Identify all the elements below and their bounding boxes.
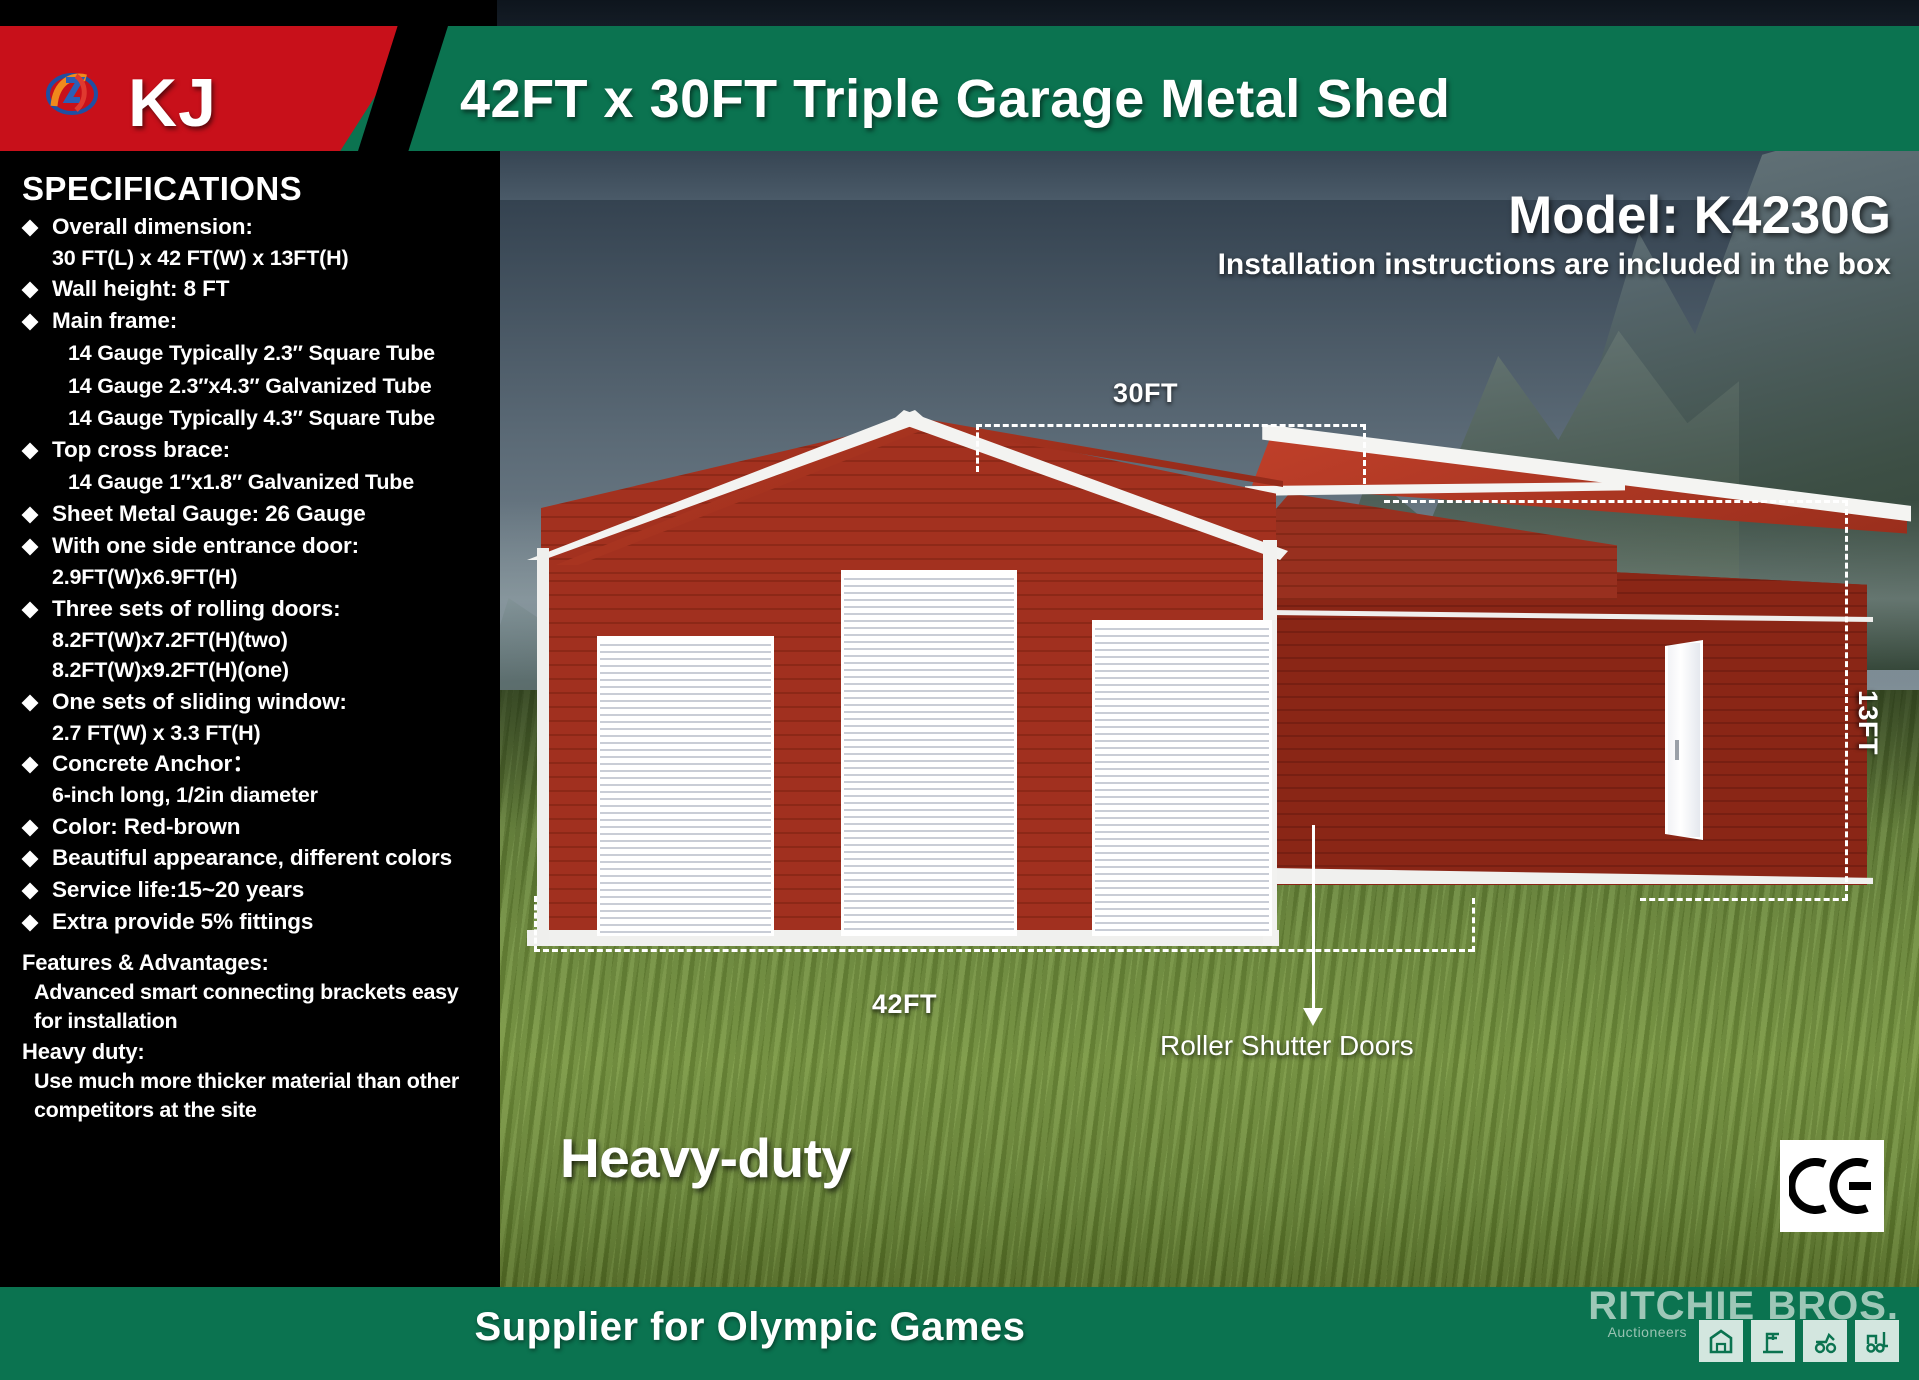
product-title: 42FT x 30FT Triple Garage Metal Shed bbox=[460, 68, 1450, 130]
diamond-bullet-icon bbox=[22, 851, 39, 868]
spec-item-label: One sets of sliding window: bbox=[52, 689, 347, 714]
spec-item-label: Wall height: 8 FT bbox=[52, 276, 229, 301]
spec-item: Main frame: bbox=[22, 305, 486, 337]
ritchie-bros-watermark-sub: Auctioneers bbox=[1608, 1324, 1687, 1340]
callout-arrow-stem bbox=[1312, 825, 1315, 1015]
spec-item: Overall dimension: bbox=[22, 211, 486, 243]
building-icon bbox=[1699, 1320, 1743, 1362]
spec-item: Three sets of rolling doors: bbox=[22, 593, 486, 625]
spec-item-label: Concrete Anchor： bbox=[52, 751, 255, 776]
model-number: Model: K4230G bbox=[1508, 185, 1891, 246]
front-gable bbox=[541, 420, 1276, 580]
forklift-icon bbox=[1855, 1320, 1899, 1362]
spec-item: Sheet Metal Gauge: 26 Gauge bbox=[22, 498, 486, 530]
features-body: Advanced smart connecting brackets easy … bbox=[22, 978, 486, 1036]
spec-item-label: Beautiful appearance, different colors bbox=[52, 845, 452, 870]
dim-13ft-tick-bottom bbox=[1640, 898, 1848, 901]
excavator-icon bbox=[1803, 1320, 1847, 1362]
diamond-bullet-icon bbox=[22, 694, 39, 711]
spec-item: One sets of sliding window: bbox=[22, 686, 486, 718]
side-entrance-door bbox=[1665, 640, 1703, 840]
crane-icon bbox=[1751, 1320, 1795, 1362]
roller-shutter-door-2 bbox=[841, 570, 1017, 936]
corner-trim-left bbox=[537, 548, 549, 940]
kj-swirl-logo-icon bbox=[46, 70, 98, 118]
spec-item-label: Color: Red-brown bbox=[52, 814, 240, 839]
installation-note: Installation instructions are included i… bbox=[1218, 248, 1891, 282]
specifications-title: SPECIFICATIONS bbox=[22, 172, 486, 207]
dim-42ft-tick-left bbox=[534, 896, 537, 952]
spec-item: Service life:15~20 years bbox=[22, 874, 486, 906]
spec-item: Wall height: 8 FT bbox=[22, 273, 486, 305]
spec-item-label: Sheet Metal Gauge: 26 Gauge bbox=[52, 501, 366, 526]
diamond-bullet-icon bbox=[22, 507, 39, 524]
diamond-bullet-icon bbox=[22, 883, 39, 900]
callout-arrow-head bbox=[1303, 1008, 1323, 1026]
watermark-icon-row bbox=[1699, 1320, 1899, 1362]
roller-shutter-doors-callout: Roller Shutter Doors bbox=[1160, 1030, 1414, 1062]
spec-item-label: Top cross brace: bbox=[52, 437, 230, 462]
spec-subitem: 2.9FT(W)x6.9FT(H) bbox=[22, 562, 486, 593]
dim-label-30ft: 30FT bbox=[1113, 378, 1178, 409]
product-poster: 30FT 42FT 13FT Roller Shutter Doors Heav… bbox=[0, 0, 1919, 1380]
roller-shutter-door-1 bbox=[597, 636, 774, 936]
door-handle-icon bbox=[1675, 740, 1679, 760]
heavy-duty-body: Use much more thicker material than othe… bbox=[22, 1067, 486, 1125]
spec-subitem: 8.2FT(W)x7.2FT(H)(two) bbox=[22, 625, 486, 656]
dim-42ft-tick-right bbox=[1472, 898, 1475, 952]
spec-subitem: 14 Gauge 2.3″x4.3″ Galvanized Tube bbox=[22, 370, 486, 402]
diamond-bullet-icon bbox=[22, 282, 39, 299]
spec-subitem: 14 Gauge 1″x1.8″ Galvanized Tube bbox=[22, 466, 486, 498]
spec-item: With one side entrance door: bbox=[22, 530, 486, 562]
spec-subitem: 14 Gauge Typically 2.3″ Square Tube bbox=[22, 337, 486, 369]
diamond-bullet-icon bbox=[22, 601, 39, 618]
spec-subitem: 2.7 FT(W) x 3.3 FT(H) bbox=[22, 718, 486, 749]
header-bar: KJ 42FT x 30FT Triple Garage Metal Shed bbox=[0, 26, 1919, 151]
dim-30ft-tick-right bbox=[1363, 424, 1366, 484]
dim-30ft-line bbox=[976, 424, 1366, 427]
features-heading: Features & Advantages: bbox=[22, 948, 486, 977]
heavy-duty-stamp: Heavy-duty bbox=[560, 1126, 851, 1190]
spec-subitem: 8.2FT(W)x9.2FT(H)(one) bbox=[22, 655, 486, 686]
spec-item: Color: Red-brown bbox=[22, 811, 486, 843]
specifications-panel: SPECIFICATIONS Overall dimension:30 FT(L… bbox=[0, 150, 500, 1287]
spec-subitem: 14 Gauge Typically 4.3″ Square Tube bbox=[22, 402, 486, 434]
diamond-bullet-icon bbox=[22, 539, 39, 556]
ce-mark-icon bbox=[1780, 1140, 1884, 1232]
diamond-bullet-icon bbox=[22, 314, 39, 331]
brand-name: KJ bbox=[128, 64, 217, 142]
diamond-bullet-icon bbox=[22, 219, 39, 236]
dim-label-13ft: 13FT bbox=[1852, 690, 1883, 755]
spec-subitem: 30 FT(L) x 42 FT(W) x 13FT(H) bbox=[22, 243, 486, 274]
spec-item: Beautiful appearance, different colors bbox=[22, 842, 486, 874]
heavy-duty-heading: Heavy duty: bbox=[22, 1037, 486, 1066]
diamond-bullet-icon bbox=[22, 443, 39, 460]
spec-item-label: Overall dimension: bbox=[52, 214, 253, 239]
diamond-bullet-icon bbox=[22, 757, 39, 774]
dim-13ft-line bbox=[1845, 500, 1848, 900]
spec-item-label: With one side entrance door: bbox=[52, 533, 359, 558]
footer-tagline: Supplier for Olympic Games bbox=[0, 1305, 1500, 1350]
specifications-list: Overall dimension:30 FT(L) x 42 FT(W) x … bbox=[22, 211, 486, 938]
spec-item-label: Service life:15~20 years bbox=[52, 877, 304, 902]
spec-item-label: Main frame: bbox=[52, 308, 177, 333]
dim-13ft-tick-top bbox=[1384, 500, 1848, 503]
dim-30ft-tick-left bbox=[976, 424, 979, 472]
roller-shutter-door-3 bbox=[1092, 620, 1272, 936]
spec-item-label: Three sets of rolling doors: bbox=[52, 596, 340, 621]
spec-item: Extra provide 5% fittings bbox=[22, 906, 486, 938]
dim-label-42ft: 42FT bbox=[872, 989, 937, 1020]
spec-item: Top cross brace: bbox=[22, 434, 486, 466]
diamond-bullet-icon bbox=[22, 819, 39, 836]
spec-item: Concrete Anchor： bbox=[22, 748, 486, 780]
spec-subitem: 6-inch long, 1/2in diameter bbox=[22, 780, 486, 811]
right-side-wall bbox=[1267, 555, 1867, 885]
spec-item-label: Extra provide 5% fittings bbox=[52, 909, 313, 934]
diamond-bullet-icon bbox=[22, 915, 39, 932]
dim-42ft-line bbox=[534, 949, 1474, 952]
